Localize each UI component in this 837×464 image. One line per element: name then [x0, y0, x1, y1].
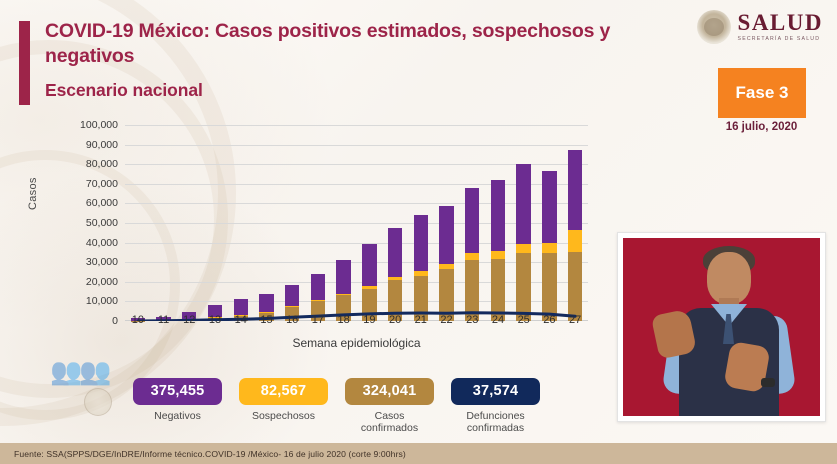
y-axis-ticks: 010,00020,00030,00040,00050,00060,00070,… — [54, 114, 118, 359]
y-axis-tick: 40,000 — [54, 237, 118, 249]
bar-segment — [542, 243, 556, 254]
emblem-figures-icon: 👥👥 — [50, 358, 145, 384]
stat-label: Casos confirmados — [345, 410, 434, 435]
bar-segment — [234, 299, 248, 315]
y-axis-tick: 70,000 — [54, 178, 118, 190]
x-axis-tick: 24 — [492, 314, 504, 326]
stat-card: 375,455Negativos — [133, 378, 222, 435]
bar-week-20 — [388, 228, 402, 321]
y-axis-tick: 100,000 — [54, 119, 118, 131]
y-axis-tick: 30,000 — [54, 256, 118, 268]
bar-segment — [439, 206, 453, 264]
phase-badge: Fase 3 — [718, 68, 806, 118]
title-accent-bar — [19, 21, 30, 105]
emblem-seal-icon — [84, 388, 112, 416]
video-frame — [623, 238, 820, 416]
bar-week-25 — [516, 164, 530, 321]
bar-segment — [491, 251, 505, 258]
bar-segment — [311, 274, 325, 300]
bar-week-18 — [336, 260, 350, 321]
page-subtitle: Escenario nacional — [45, 80, 203, 101]
gridline — [125, 125, 588, 126]
bar-week-24 — [491, 180, 505, 321]
bar-week-19 — [362, 244, 376, 321]
source-text: Fuente: SSA(SPPS/DGE/InDRE/Informe técni… — [0, 449, 406, 459]
bar-week-26 — [542, 171, 556, 321]
x-axis-label: Semana epidemiológica — [125, 336, 588, 350]
bar-segment — [336, 260, 350, 293]
bar-week-22 — [439, 206, 453, 321]
stat-value-badge: 324,041 — [345, 378, 434, 405]
stat-card: 324,041Casos confirmados — [345, 378, 434, 435]
bar-segment — [491, 180, 505, 251]
bar-segment — [516, 253, 530, 321]
x-axis-tick: 20 — [389, 314, 401, 326]
bar-segment — [516, 164, 530, 243]
bar-segment — [568, 252, 582, 321]
stat-label: Negativos — [133, 410, 222, 422]
eagle-emblem-icon — [697, 10, 731, 44]
x-axis-tick: 15 — [260, 314, 272, 326]
bar-week-27 — [568, 150, 582, 321]
x-axis-tick: 18 — [338, 314, 350, 326]
bar-segment — [568, 150, 582, 231]
y-axis-label: Casos — [27, 177, 39, 210]
report-date: 16 julio, 2020 — [704, 121, 819, 133]
x-axis-tick: 25 — [518, 314, 530, 326]
bar-segment — [491, 259, 505, 321]
x-axis-tick: 17 — [312, 314, 324, 326]
bar-segment — [568, 230, 582, 252]
x-axis-tick: 26 — [543, 314, 555, 326]
x-axis-tick: 12 — [183, 314, 195, 326]
stat-value-badge: 375,455 — [133, 378, 222, 405]
government-emblem-watermark: 👥👥 — [50, 358, 145, 426]
slide-canvas: COVID-19 México: Casos positivos estimad… — [0, 0, 837, 464]
summary-stats: 375,455Negativos82,567Sospechosos324,041… — [133, 378, 540, 435]
x-axis-tick: 14 — [235, 314, 247, 326]
bar-segment — [259, 294, 273, 312]
stat-value-badge: 82,567 — [239, 378, 328, 405]
page-title: COVID-19 México: Casos positivos estimad… — [45, 19, 655, 69]
bar-segment — [285, 285, 299, 306]
y-axis-tick: 10,000 — [54, 295, 118, 307]
sign-language-video-panel[interactable] — [617, 232, 826, 422]
logo-title: SALUD — [738, 11, 823, 34]
x-axis-tick: 11 — [158, 314, 169, 326]
stat-label: Defunciones confirmadas — [451, 410, 540, 435]
stat-card: 37,574Defunciones confirmadas — [451, 378, 540, 435]
bar-segment — [542, 171, 556, 242]
bar-week-23 — [465, 188, 479, 321]
logo-text-group: SALUD SECRETARÍA DE SALUD — [738, 11, 823, 42]
y-axis-tick: 80,000 — [54, 158, 118, 170]
x-axis-tick: 13 — [209, 314, 221, 326]
bar-segment — [362, 244, 376, 286]
source-footer: Fuente: SSA(SPPS/DGE/InDRE/Informe técni… — [0, 443, 837, 464]
y-axis-tick: 50,000 — [54, 217, 118, 229]
interpreter-watch — [761, 378, 775, 387]
bar-segment — [516, 244, 530, 254]
x-axis-tick: 21 — [415, 314, 427, 326]
stat-value-badge: 37,574 — [451, 378, 540, 405]
stat-card: 82,567Sospechosos — [239, 378, 328, 435]
x-axis-tick: 23 — [466, 314, 478, 326]
bar-segment — [465, 260, 479, 321]
plot-area — [125, 125, 588, 321]
gridline — [125, 145, 588, 146]
bar-segment — [388, 228, 402, 277]
y-axis-tick: 90,000 — [54, 139, 118, 151]
salud-logo: SALUD SECRETARÍA DE SALUD — [697, 10, 823, 44]
bar-segment — [414, 215, 428, 271]
y-axis-tick: 60,000 — [54, 197, 118, 209]
x-axis-tick: 19 — [363, 314, 375, 326]
x-axis-tick: 10 — [132, 314, 144, 326]
y-axis-tick: 0 — [54, 315, 118, 327]
x-axis-tick: 16 — [286, 314, 298, 326]
covid-stacked-bar-chart: Casos 010,00020,00030,00040,00050,00060,… — [30, 114, 590, 359]
bar-segment — [542, 253, 556, 321]
interpreter-head — [707, 252, 751, 304]
x-axis-tick: 27 — [569, 314, 581, 326]
logo-subtitle: SECRETARÍA DE SALUD — [738, 37, 821, 42]
x-axis-tick: 22 — [440, 314, 452, 326]
stat-label: Sospechosos — [239, 410, 328, 422]
bar-week-21 — [414, 215, 428, 321]
bar-segment — [465, 188, 479, 253]
y-axis-tick: 20,000 — [54, 276, 118, 288]
